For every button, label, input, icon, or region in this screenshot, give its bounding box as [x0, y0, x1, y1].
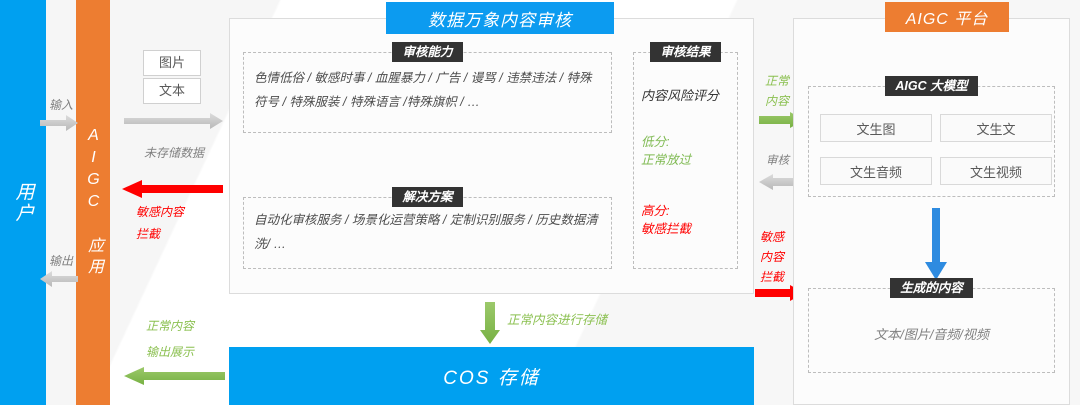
cos-storage-bar: COS 存储	[229, 347, 754, 405]
aigc-model-badge-wrap: AIGC 大模型	[808, 76, 1055, 96]
review-result-badge-wrap: 审核结果	[633, 42, 738, 62]
model-button-text-to-video[interactable]: 文生视频	[940, 157, 1052, 185]
store-label: 正常内容进行存储	[507, 313, 607, 328]
generate-down-arrow-icon	[925, 208, 947, 280]
sensitive-block-right-label-1: 敏感	[760, 230, 784, 245]
input-label: 输入	[44, 96, 78, 113]
normal-output-label-1: 正常内容	[146, 319, 194, 334]
sensitive-block-left-label-2: 拦截	[136, 227, 160, 242]
aigc-app-bar-label: AIGC 应用	[85, 127, 101, 279]
input-arrow-icon	[40, 115, 80, 131]
aigc-app-bar: AIGC 应用	[76, 0, 110, 405]
chip-text[interactable]: 文本	[143, 78, 201, 104]
chip-image[interactable]: 图片	[143, 50, 201, 76]
normal-content-label-2: 内容	[765, 94, 789, 109]
output-label: 输出	[44, 252, 78, 269]
review-label: 审核	[766, 152, 789, 168]
capability-badge: 审核能力	[392, 42, 462, 62]
diagram-canvas: 用户 AIGC 应用 输入 输出 图片 文本 未存储数据 敏感内容 拦截 正常内…	[0, 0, 1080, 405]
model-button-text-to-image[interactable]: 文生图	[820, 114, 932, 142]
content-review-title: 数据万象内容审核	[386, 2, 614, 34]
low-score-label-1: 低分:	[641, 134, 669, 150]
capability-text: 色情低俗 / 敏感时事 / 血腥暴力 / 广告 / 谩骂 / 违禁违法 / 特殊…	[254, 66, 602, 114]
low-score-label-2: 正常放过	[641, 152, 691, 168]
solution-badge: 解决方案	[392, 187, 462, 207]
unstored-data-arrow-icon	[124, 113, 224, 129]
aigc-platform-title: AIGC 平台	[885, 2, 1009, 32]
sensitive-block-right-label-2: 内容	[760, 250, 784, 265]
solution-badge-wrap: 解决方案	[243, 187, 612, 207]
normal-output-label-2: 输出展示	[146, 345, 194, 360]
user-bar: 用户	[0, 0, 46, 405]
aigc-model-badge: AIGC 大模型	[885, 76, 977, 96]
store-arrow-icon	[480, 302, 500, 344]
generated-content-badge-wrap: 生成的内容	[808, 278, 1055, 298]
normal-content-label-1: 正常	[765, 74, 789, 89]
capability-badge-wrap: 审核能力	[243, 42, 612, 62]
sensitive-block-left-arrow-icon	[122, 180, 224, 198]
sensitive-block-right-label-3: 拦截	[760, 270, 784, 285]
model-button-text-to-text[interactable]: 文生文	[940, 114, 1052, 142]
sensitive-block-left-label-1: 敏感内容	[136, 205, 184, 220]
generated-content-text: 文本/图片/音频/视频	[808, 324, 1055, 343]
aigc-platform-title-label: AIGC 平台	[906, 5, 989, 29]
high-score-label-2: 敏感拦截	[641, 221, 691, 237]
model-button-text-to-audio[interactable]: 文生音频	[820, 157, 932, 185]
user-bar-label: 用户	[10, 182, 37, 224]
high-score-label-1: 高分:	[641, 203, 669, 219]
generated-content-badge: 生成的内容	[890, 278, 973, 298]
review-result-badge: 审核结果	[650, 42, 720, 62]
output-arrow-icon	[40, 271, 80, 287]
solution-text: 自动化审核服务 / 场景化运营策略 / 定制识别服务 / 历史数据清洗/ …	[254, 208, 602, 256]
content-review-title-label: 数据万象内容审核	[428, 6, 572, 31]
risk-score-label: 内容风险评分	[641, 85, 719, 104]
cos-storage-label: COS 存储	[443, 363, 539, 390]
unstored-data-label: 未存储数据	[124, 144, 224, 161]
normal-output-arrow-icon	[124, 367, 226, 385]
